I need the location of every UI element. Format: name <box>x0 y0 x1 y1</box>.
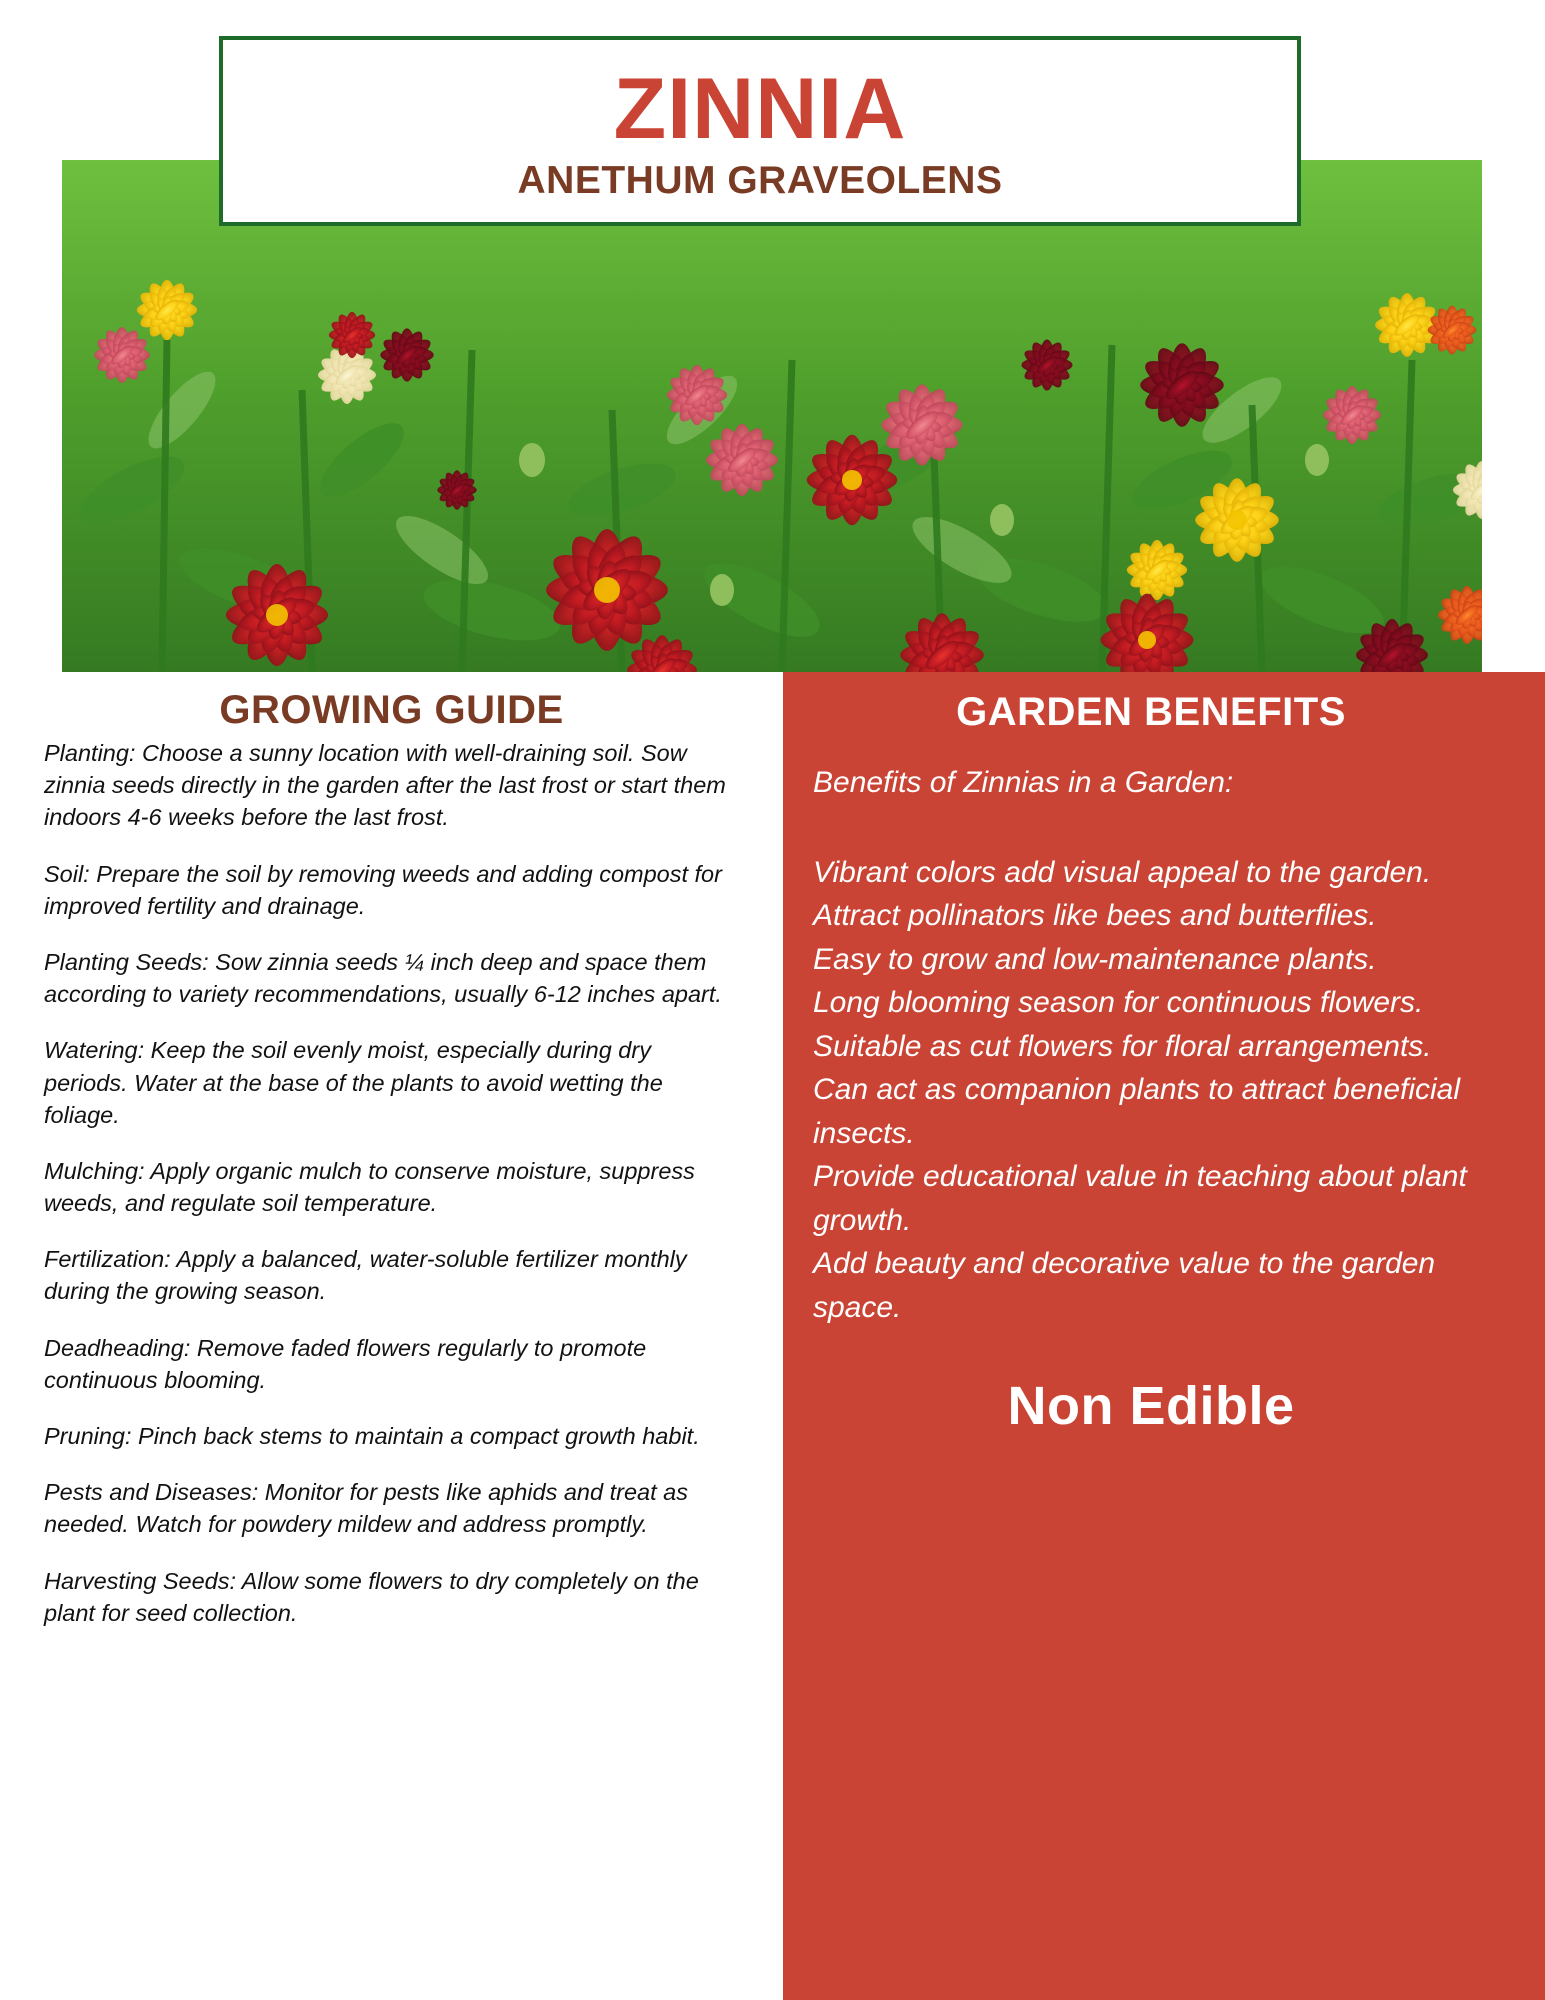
hero-photo <box>62 160 1482 672</box>
garden-benefits-heading: GARDEN BENEFITS <box>797 690 1505 735</box>
plant-info-card: ZINNIA ANETHUM GRAVEOLENS GROWING GUIDE … <box>0 0 1545 2000</box>
page-title: ZINNIA <box>614 66 907 154</box>
list-item: Harvesting Seeds: Allow some flowers to … <box>44 1565 739 1629</box>
list-item: Suitable as cut flowers for floral arran… <box>813 1025 1505 1069</box>
edibility-badge: Non Edible <box>797 1375 1505 1437</box>
list-item: Can act as companion plants to attract b… <box>813 1068 1505 1155</box>
list-item: Mulching: Apply organic mulch to conserv… <box>44 1155 739 1219</box>
garden-benefits-panel: GARDEN BENEFITS Benefits of Zinnias in a… <box>783 672 1545 2000</box>
list-item: Soil: Prepare the soil by removing weeds… <box>44 858 739 922</box>
list-item: Add beauty and decorative value to the g… <box>813 1242 1505 1329</box>
growing-guide-heading: GROWING GUIDE <box>44 688 739 733</box>
growing-guide-panel: GROWING GUIDE Planting: Choose a sunny l… <box>0 672 783 2000</box>
list-item: Pruning: Pinch back stems to maintain a … <box>44 1420 739 1452</box>
list-item: Planting: Choose a sunny location with w… <box>44 737 739 834</box>
content-columns: GROWING GUIDE Planting: Choose a sunny l… <box>0 672 1545 2000</box>
title-card: ZINNIA ANETHUM GRAVEOLENS <box>219 36 1301 226</box>
zinnia-field-illustration <box>62 160 1482 672</box>
scientific-name: ANETHUM GRAVEOLENS <box>518 161 1003 202</box>
list-item: Vibrant colors add visual appeal to the … <box>813 851 1505 895</box>
growing-guide-list: Planting: Choose a sunny location with w… <box>44 737 739 1629</box>
list-item: Pests and Diseases: Monitor for pests li… <box>44 1476 739 1540</box>
list-item: Watering: Keep the soil evenly moist, es… <box>44 1034 739 1131</box>
list-item: Deadheading: Remove faded flowers regula… <box>44 1332 739 1396</box>
list-item: Attract pollinators like bees and butter… <box>813 894 1505 938</box>
list-item: Provide educational value in teaching ab… <box>813 1155 1505 1242</box>
benefits-intro: Benefits of Zinnias in a Garden: <box>797 761 1505 805</box>
list-item: Planting Seeds: Sow zinnia seeds ¼ inch … <box>44 946 739 1010</box>
list-item: Long blooming season for continuous flow… <box>813 981 1505 1025</box>
list-item: Fertilization: Apply a balanced, water-s… <box>44 1243 739 1307</box>
list-item: Easy to grow and low-maintenance plants. <box>813 938 1505 982</box>
benefits-list: Vibrant colors add visual appeal to the … <box>797 851 1505 1330</box>
